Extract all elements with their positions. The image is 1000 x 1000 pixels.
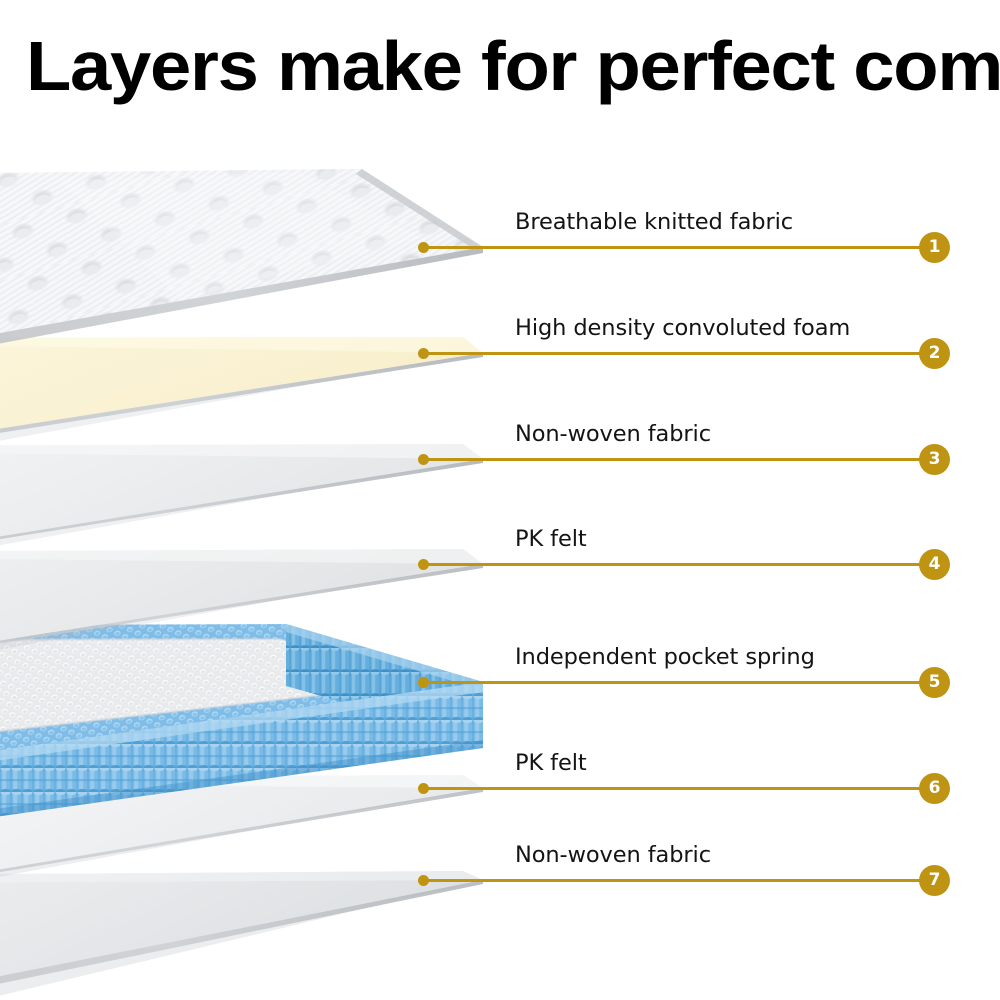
callout-3-number-badge[interactable]: 3 [919, 444, 950, 475]
callout-1-leader-line [428, 246, 922, 249]
callout-2-leader-line [428, 352, 922, 355]
callout-1-number-badge[interactable]: 1 [919, 232, 950, 263]
callout-6-leader-line [428, 787, 922, 790]
callout-6-number-badge[interactable]: 6 [919, 773, 950, 804]
callout-5-number-badge[interactable]: 5 [919, 667, 950, 698]
callout-3-label: Non-woven fabric [515, 421, 711, 447]
callout-4-leader-line [428, 563, 922, 566]
callout-5-label: Independent pocket spring [515, 644, 815, 670]
callout-5-leader-line [428, 681, 922, 684]
callout-4-label: PK felt [515, 526, 587, 552]
mattress-layers-illustration [0, 0, 1000, 1000]
layers-svg [0, 0, 1000, 1000]
callout-4-number-badge[interactable]: 4 [919, 549, 950, 580]
callout-7-number-badge[interactable]: 7 [919, 865, 950, 896]
infographic-canvas: Layers make for perfect comfort [0, 0, 1000, 1000]
callout-2-label: High density convoluted foam [515, 315, 850, 341]
callout-7-leader-line [428, 879, 922, 882]
layer-7-non-woven-fabric [0, 871, 483, 1000]
callout-3-leader-line [428, 458, 922, 461]
callout-7-label: Non-woven fabric [515, 842, 711, 868]
callout-2-number-badge[interactable]: 2 [919, 338, 950, 369]
callout-6-label: PK felt [515, 750, 587, 776]
callout-1-label: Breathable knitted fabric [515, 209, 793, 235]
